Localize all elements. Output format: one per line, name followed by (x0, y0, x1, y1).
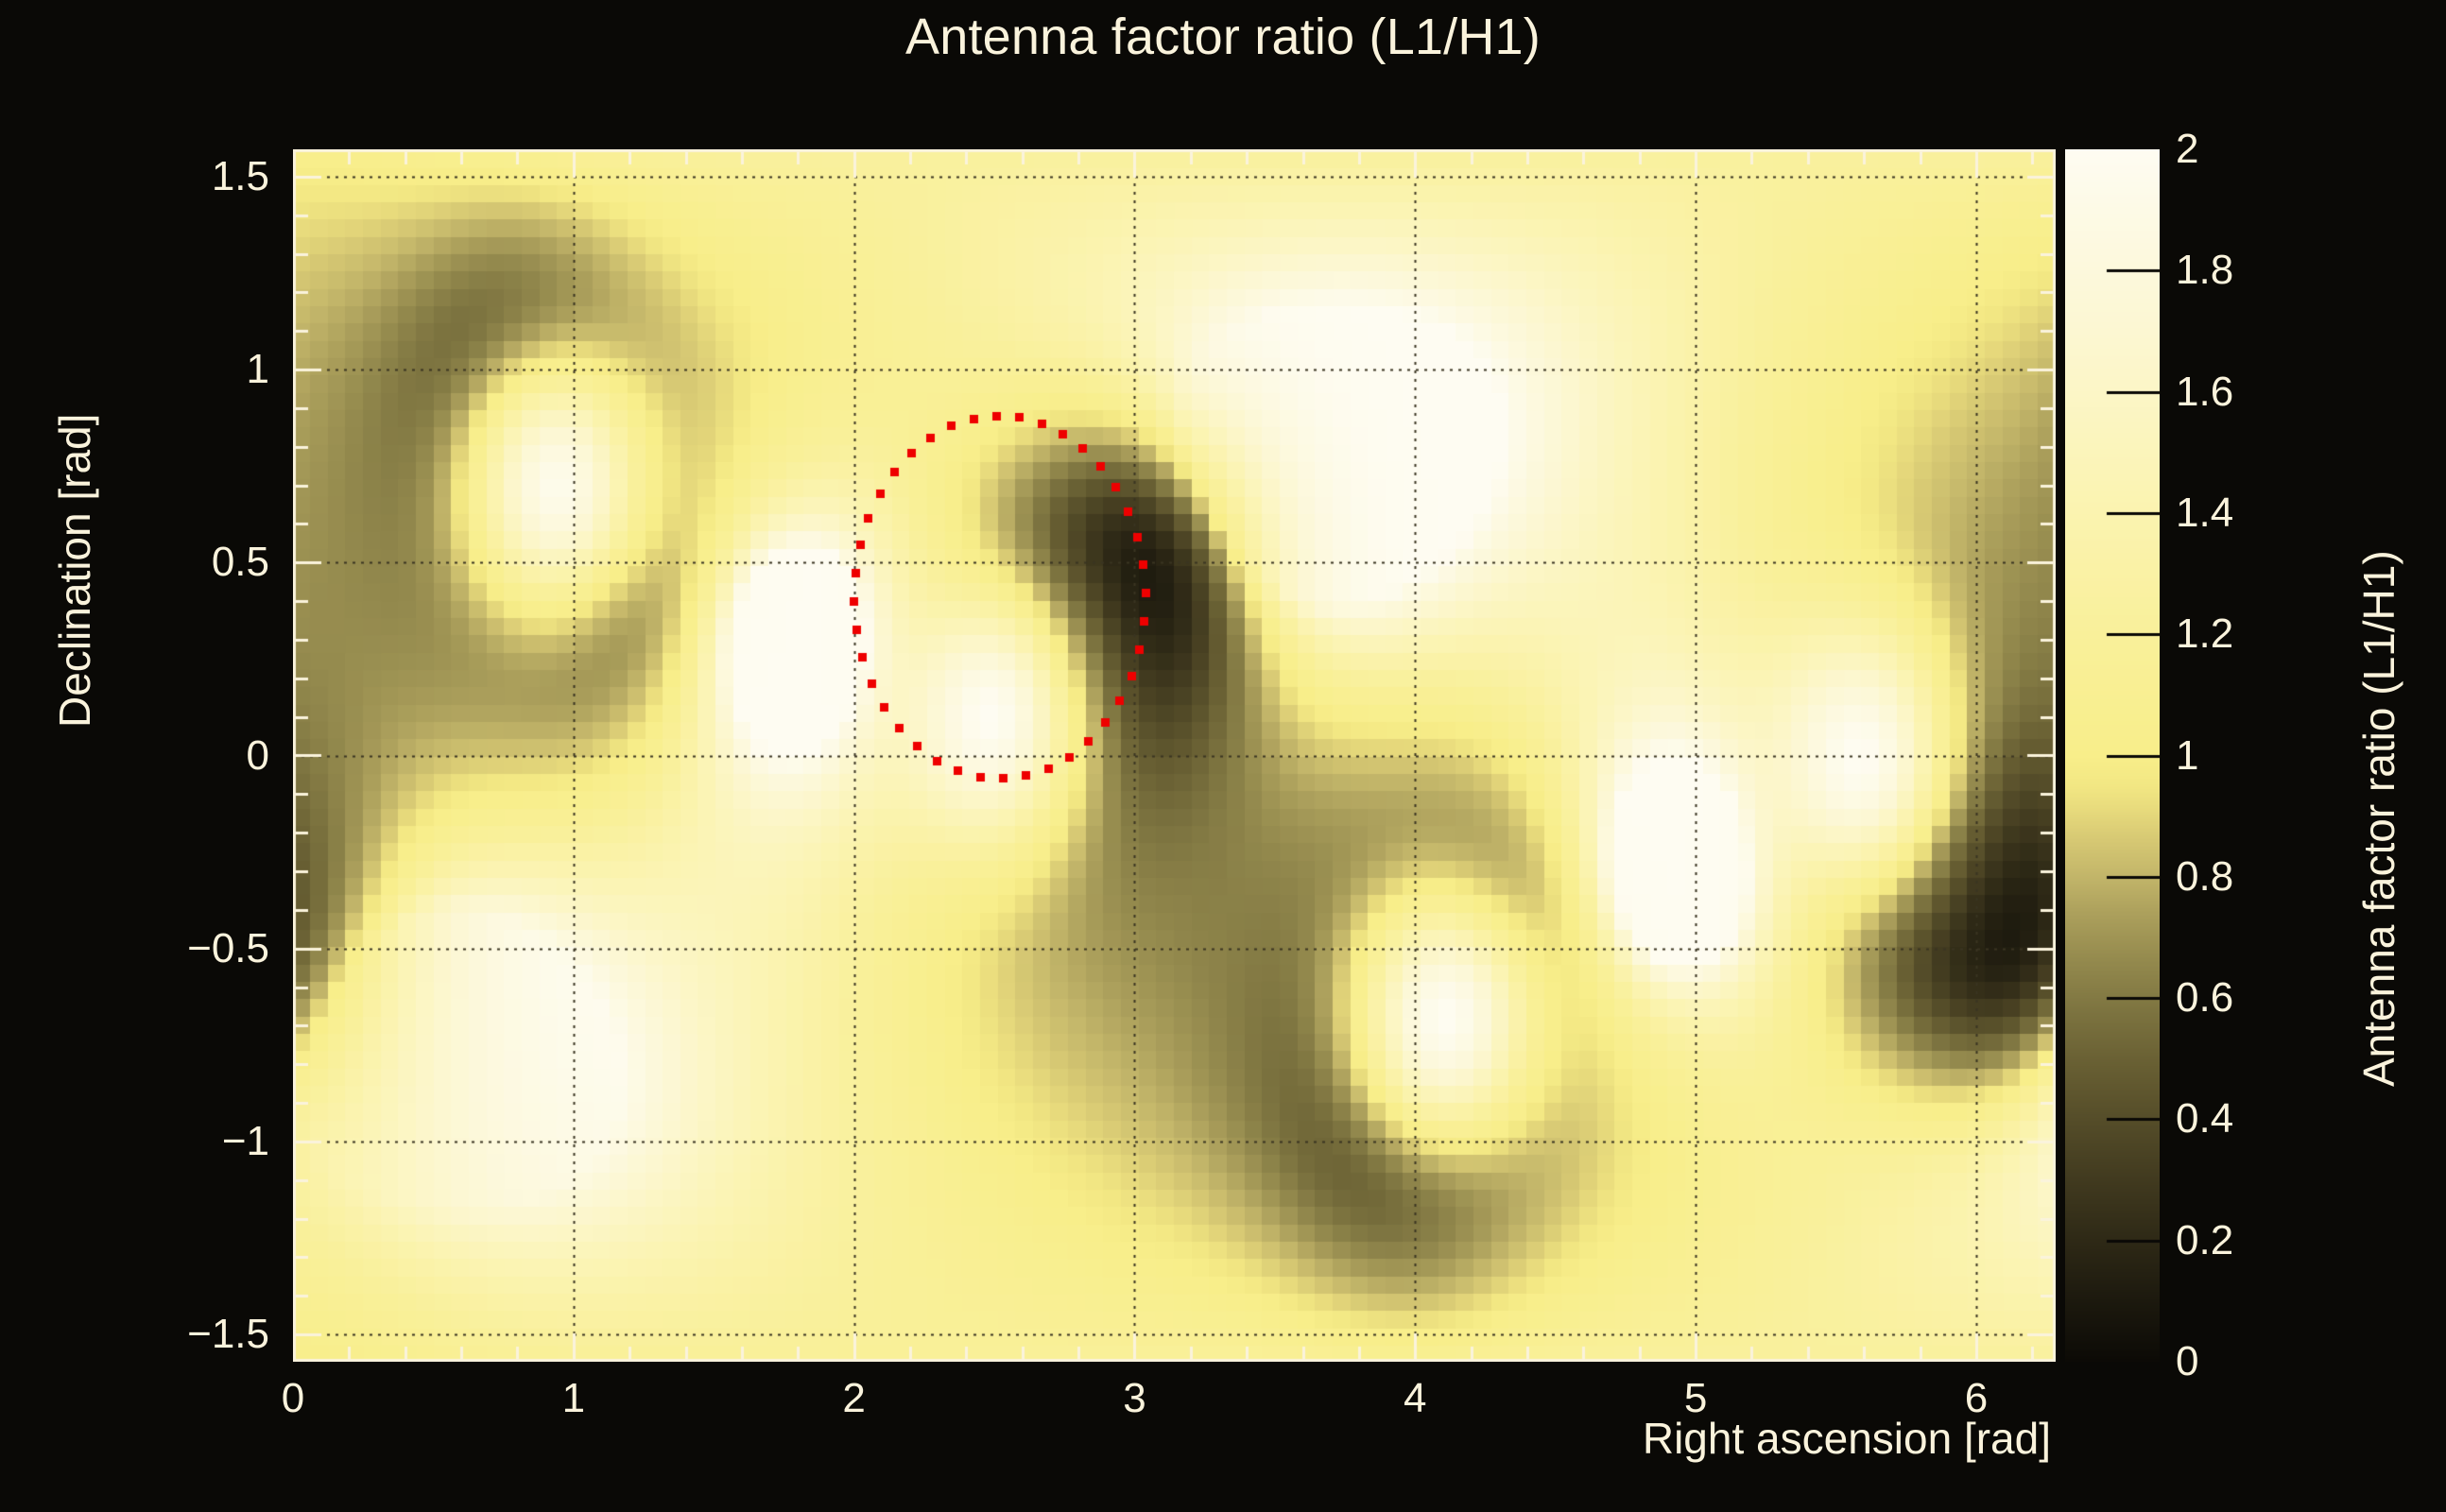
heatmap-plot-area[interactable] (293, 149, 2056, 1362)
y-tick-label: −1.5 (85, 1311, 269, 1358)
colorbar-tick-label: 1.4 (2176, 490, 2233, 537)
x-axis-title: Right ascension [rad] (1238, 1413, 2051, 1464)
colorbar-tick-label: 0 (2176, 1338, 2198, 1385)
colorbar-tick-label: 1.8 (2176, 247, 2233, 294)
colorbar-tick-label: 1 (2176, 732, 2198, 780)
page-title: Antenna factor ratio (L1/H1) (0, 8, 2446, 66)
y-axis-title: Declination [rad] (49, 414, 100, 728)
y-tick-label: 0 (85, 732, 269, 780)
y-tick-label: 1.5 (85, 153, 269, 200)
y-tick-label: 1 (85, 346, 269, 393)
x-tick-label: 1 (562, 1375, 585, 1422)
colorbar-tick-label: 0.2 (2176, 1217, 2233, 1264)
colorbar-tick-label: 1.6 (2176, 369, 2233, 416)
colorbar[interactable] (2065, 149, 2160, 1362)
colorbar-tick-label: 1.2 (2176, 610, 2233, 658)
x-tick-label: 0 (282, 1375, 304, 1422)
y-tick-label: 0.5 (85, 539, 269, 586)
colorbar-title: Antenna factor ratio (L1/H1) (2353, 550, 2404, 1087)
colorbar-tick-label: 0.4 (2176, 1095, 2233, 1143)
x-tick-label: 2 (842, 1375, 865, 1422)
colorbar-tick-label: 0.8 (2176, 853, 2233, 901)
colorbar-tick-label: 2 (2176, 126, 2198, 173)
colorbar-gradient (2065, 149, 2160, 1362)
x-tick-label: 3 (1123, 1375, 1145, 1422)
plot-canvas: Antenna factor ratio (L1/H1) −1.5−1−0.50… (0, 0, 2446, 1512)
y-tick-label: −1 (85, 1118, 269, 1165)
colorbar-tick-label: 0.6 (2176, 974, 2233, 1022)
heatmap-image (293, 149, 2056, 1362)
y-tick-label: −0.5 (85, 925, 269, 972)
